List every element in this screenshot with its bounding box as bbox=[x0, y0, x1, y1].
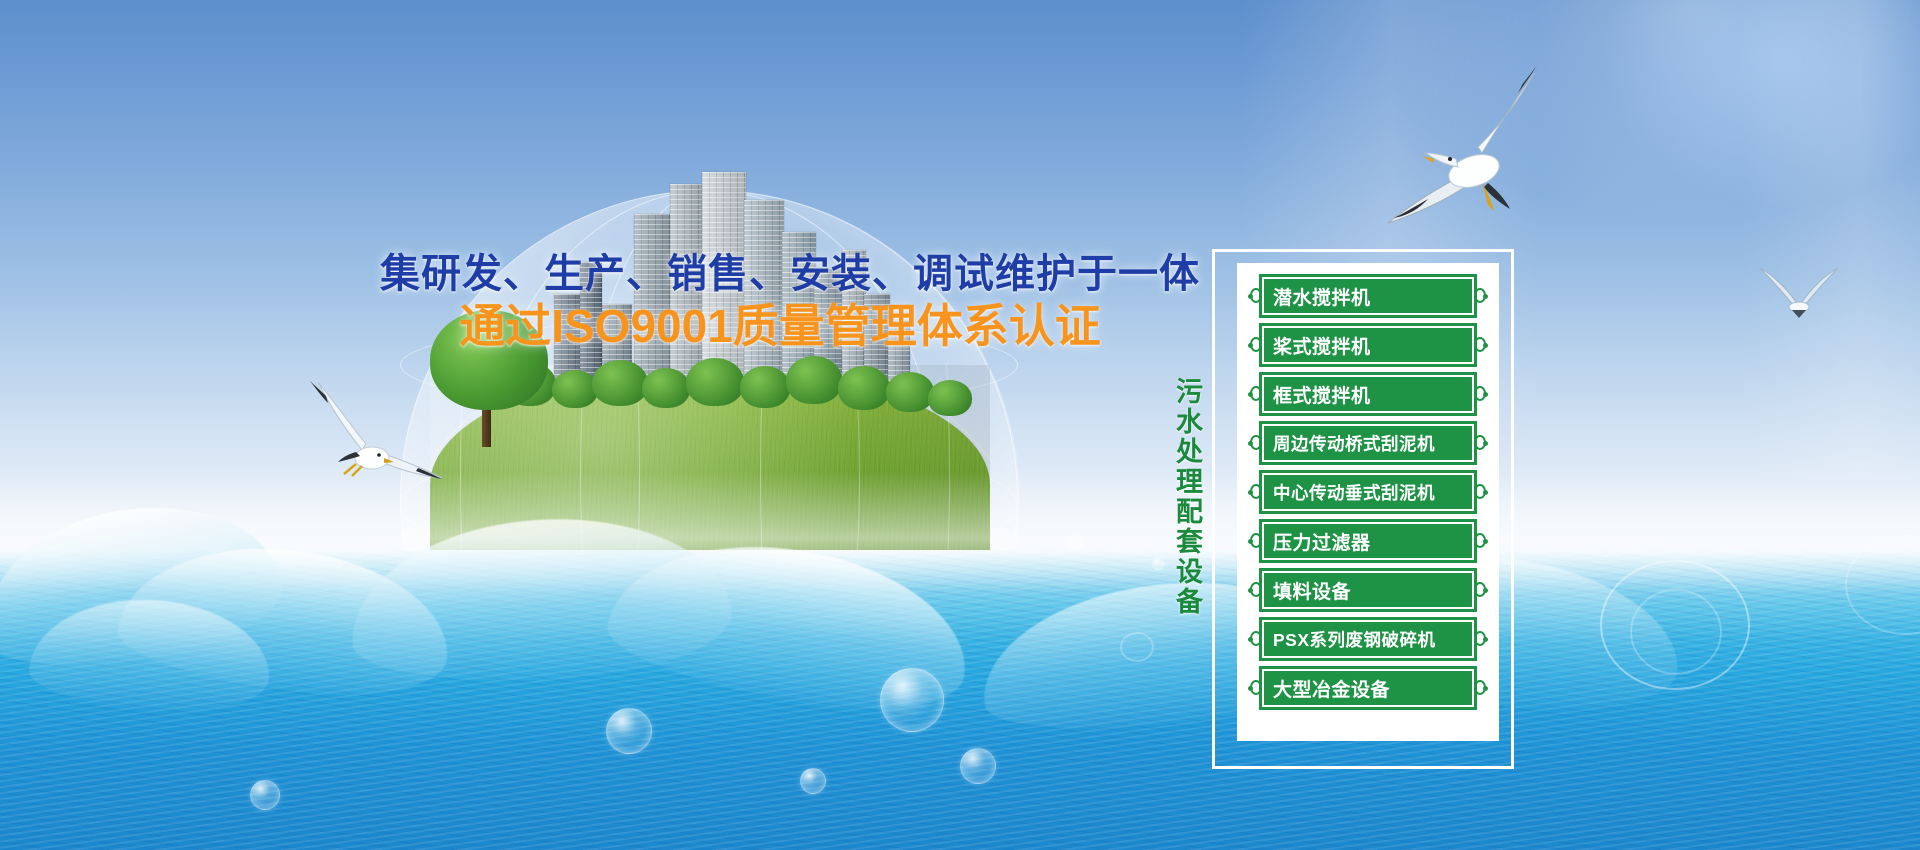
connector-right-icon bbox=[1474, 533, 1486, 548]
lens-glow-icon bbox=[1600, 0, 1920, 210]
seagull-large-top-right-icon bbox=[1370, 55, 1580, 230]
water-surface bbox=[0, 550, 1920, 850]
product-item-row[interactable]: 填料设备 bbox=[1249, 568, 1487, 612]
connector-right-icon bbox=[1474, 435, 1486, 450]
connector-right-icon bbox=[1474, 484, 1486, 499]
headline-line-1: 集研发、生产、销售、安装、调试维护于一体 bbox=[380, 252, 1180, 297]
product-item-row[interactable]: PSX系列废钢破碎机 bbox=[1249, 617, 1487, 661]
product-item-row[interactable]: 压力过滤器 bbox=[1249, 519, 1487, 563]
product-label: 潜水搅拌机 bbox=[1262, 283, 1371, 310]
product-item-row[interactable]: 周边传动桥式刮泥机 bbox=[1249, 421, 1487, 465]
product-pill[interactable]: 框式搅拌机 bbox=[1259, 372, 1477, 416]
product-label: 中心传动垂式刮泥机 bbox=[1262, 480, 1435, 505]
connector-right-icon bbox=[1474, 631, 1486, 646]
connector-right-icon bbox=[1474, 680, 1486, 695]
connector-left-icon bbox=[1250, 386, 1262, 401]
lens-glow-icon bbox=[1380, 0, 1920, 220]
product-label: 压力过滤器 bbox=[1262, 528, 1371, 555]
connector-left-icon bbox=[1250, 337, 1262, 352]
product-pill[interactable]: 填料设备 bbox=[1259, 568, 1477, 612]
product-label: 桨式搅拌机 bbox=[1262, 332, 1371, 359]
product-pill[interactable]: 桨式搅拌机 bbox=[1259, 323, 1477, 367]
connector-right-icon bbox=[1474, 582, 1486, 597]
product-label: 周边传动桥式刮泥机 bbox=[1262, 431, 1435, 456]
connector-right-icon bbox=[1474, 337, 1486, 352]
product-label: 大型冶金设备 bbox=[1262, 675, 1390, 702]
product-item-row[interactable]: 中心传动垂式刮泥机 bbox=[1249, 470, 1487, 514]
product-pill[interactable]: PSX系列废钢破碎机 bbox=[1259, 617, 1477, 661]
headline-block: 集研发、生产、销售、安装、调试维护于一体 通过ISO9001质量管理体系认证 bbox=[380, 252, 1180, 352]
product-label: 填料设备 bbox=[1262, 577, 1351, 604]
product-label: 框式搅拌机 bbox=[1262, 381, 1371, 408]
seagull-small-right-icon bbox=[1752, 262, 1844, 324]
connector-left-icon bbox=[1250, 533, 1262, 548]
water-bubble-icon bbox=[1068, 534, 1084, 550]
product-pill[interactable]: 潜水搅拌机 bbox=[1259, 274, 1477, 318]
light-streak-icon bbox=[1740, 0, 1920, 480]
product-list-panel: 污水处理配套设备 潜水搅拌机 桨式搅拌机 框式搅拌机 bbox=[1212, 249, 1514, 769]
connector-left-icon bbox=[1250, 484, 1262, 499]
product-pill[interactable]: 大型冶金设备 bbox=[1259, 666, 1477, 710]
product-pill[interactable]: 压力过滤器 bbox=[1259, 519, 1477, 563]
product-label: PSX系列废钢破碎机 bbox=[1262, 627, 1436, 652]
product-item-row[interactable]: 潜水搅拌机 bbox=[1249, 274, 1487, 318]
connector-left-icon bbox=[1250, 435, 1262, 450]
product-item-row[interactable]: 框式搅拌机 bbox=[1249, 372, 1487, 416]
connector-left-icon bbox=[1250, 631, 1262, 646]
connector-right-icon bbox=[1474, 386, 1486, 401]
headline-line-2: 通过ISO9001质量管理体系认证 bbox=[380, 301, 1180, 353]
product-item-row[interactable]: 桨式搅拌机 bbox=[1249, 323, 1487, 367]
connector-left-icon bbox=[1250, 680, 1262, 695]
connector-left-icon bbox=[1250, 288, 1262, 303]
product-pill[interactable]: 中心传动垂式刮泥机 bbox=[1259, 470, 1477, 514]
product-item-row[interactable]: 大型冶金设备 bbox=[1249, 666, 1487, 710]
panel-vertical-label: 污水处理配套设备 bbox=[1166, 377, 1200, 617]
panel-inner-white: 潜水搅拌机 桨式搅拌机 框式搅拌机 bbox=[1237, 263, 1499, 741]
product-pill[interactable]: 周边传动桥式刮泥机 bbox=[1259, 421, 1477, 465]
eco-water-treatment-banner: 集研发、生产、销售、安装、调试维护于一体 通过ISO9001质量管理体系认证 bbox=[0, 0, 1920, 850]
connector-right-icon bbox=[1474, 288, 1486, 303]
connector-left-icon bbox=[1250, 582, 1262, 597]
